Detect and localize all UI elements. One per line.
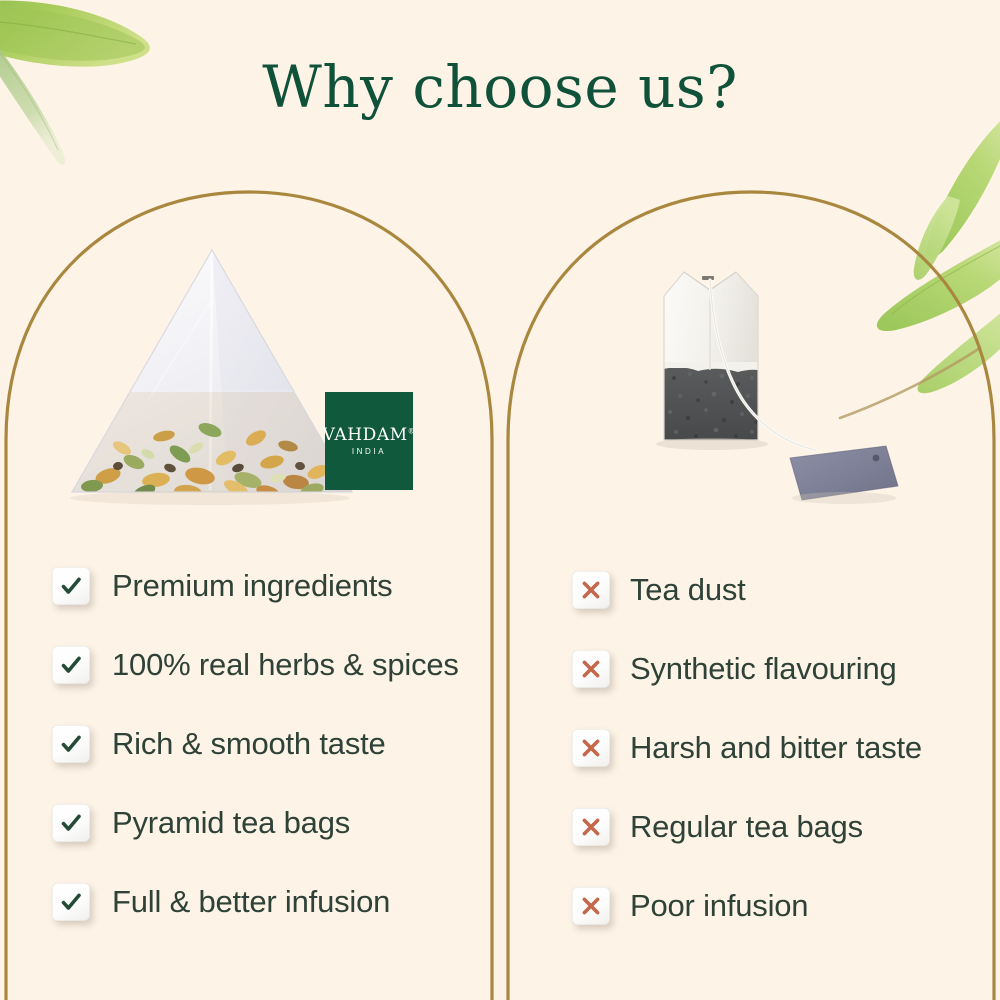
paper-bag-illustration [640,250,940,530]
tea-bag-tag [790,446,898,500]
page-title: Why choose us? [0,56,1000,120]
brand-subtitle: INDIA [352,448,386,456]
list-item-label: Premium ingredients [112,570,392,601]
cross-icon [572,571,610,609]
check-icon [52,804,90,842]
benefits-list: Premium ingredients 100% real herbs & sp… [52,546,482,941]
list-item-label: Regular tea bags [630,811,863,842]
drawbacks-list: Tea dust Synthetic flavouring Harsh and … [572,550,972,945]
cross-icon [572,887,610,925]
cross-icon [572,650,610,688]
list-item-label: Pyramid tea bags [112,807,350,838]
list-item: Poor infusion [572,866,972,945]
cross-icon [572,808,610,846]
regular-tea-bag-image [640,250,940,530]
list-item-label: Poor infusion [630,890,808,921]
list-item: Harsh and bitter taste [572,708,972,787]
check-icon [52,567,90,605]
list-item: Tea dust [572,550,972,629]
list-item-label: Synthetic flavouring [630,653,897,684]
tea-dust-fill [660,362,764,444]
list-item: 100% real herbs & spices [52,625,482,704]
list-item-label: Full & better infusion [112,886,390,917]
list-item: Premium ingredients [52,546,482,625]
registered-mark: ® [408,427,416,435]
list-item: Synthetic flavouring [572,629,972,708]
vahdam-brand-tag: VAHDAM® INDIA [325,392,413,490]
check-icon [52,725,90,763]
check-icon [52,883,90,921]
list-item-label: Tea dust [630,574,746,605]
promo-banner: Why choose us? [0,0,1000,1000]
check-icon [52,646,90,684]
pyramid-tea-bag-image: VAHDAM® INDIA [60,240,440,520]
list-item: Rich & smooth taste [52,704,482,783]
list-item: Regular tea bags [572,787,972,866]
list-item: Pyramid tea bags [52,783,482,862]
brand-name: VAHDAM® [323,427,416,444]
list-item-label: Rich & smooth taste [112,728,386,759]
cross-icon [572,729,610,767]
list-item-label: Harsh and bitter taste [630,732,922,763]
list-item-label: 100% real herbs & spices [112,649,459,680]
list-item: Full & better infusion [52,862,482,941]
